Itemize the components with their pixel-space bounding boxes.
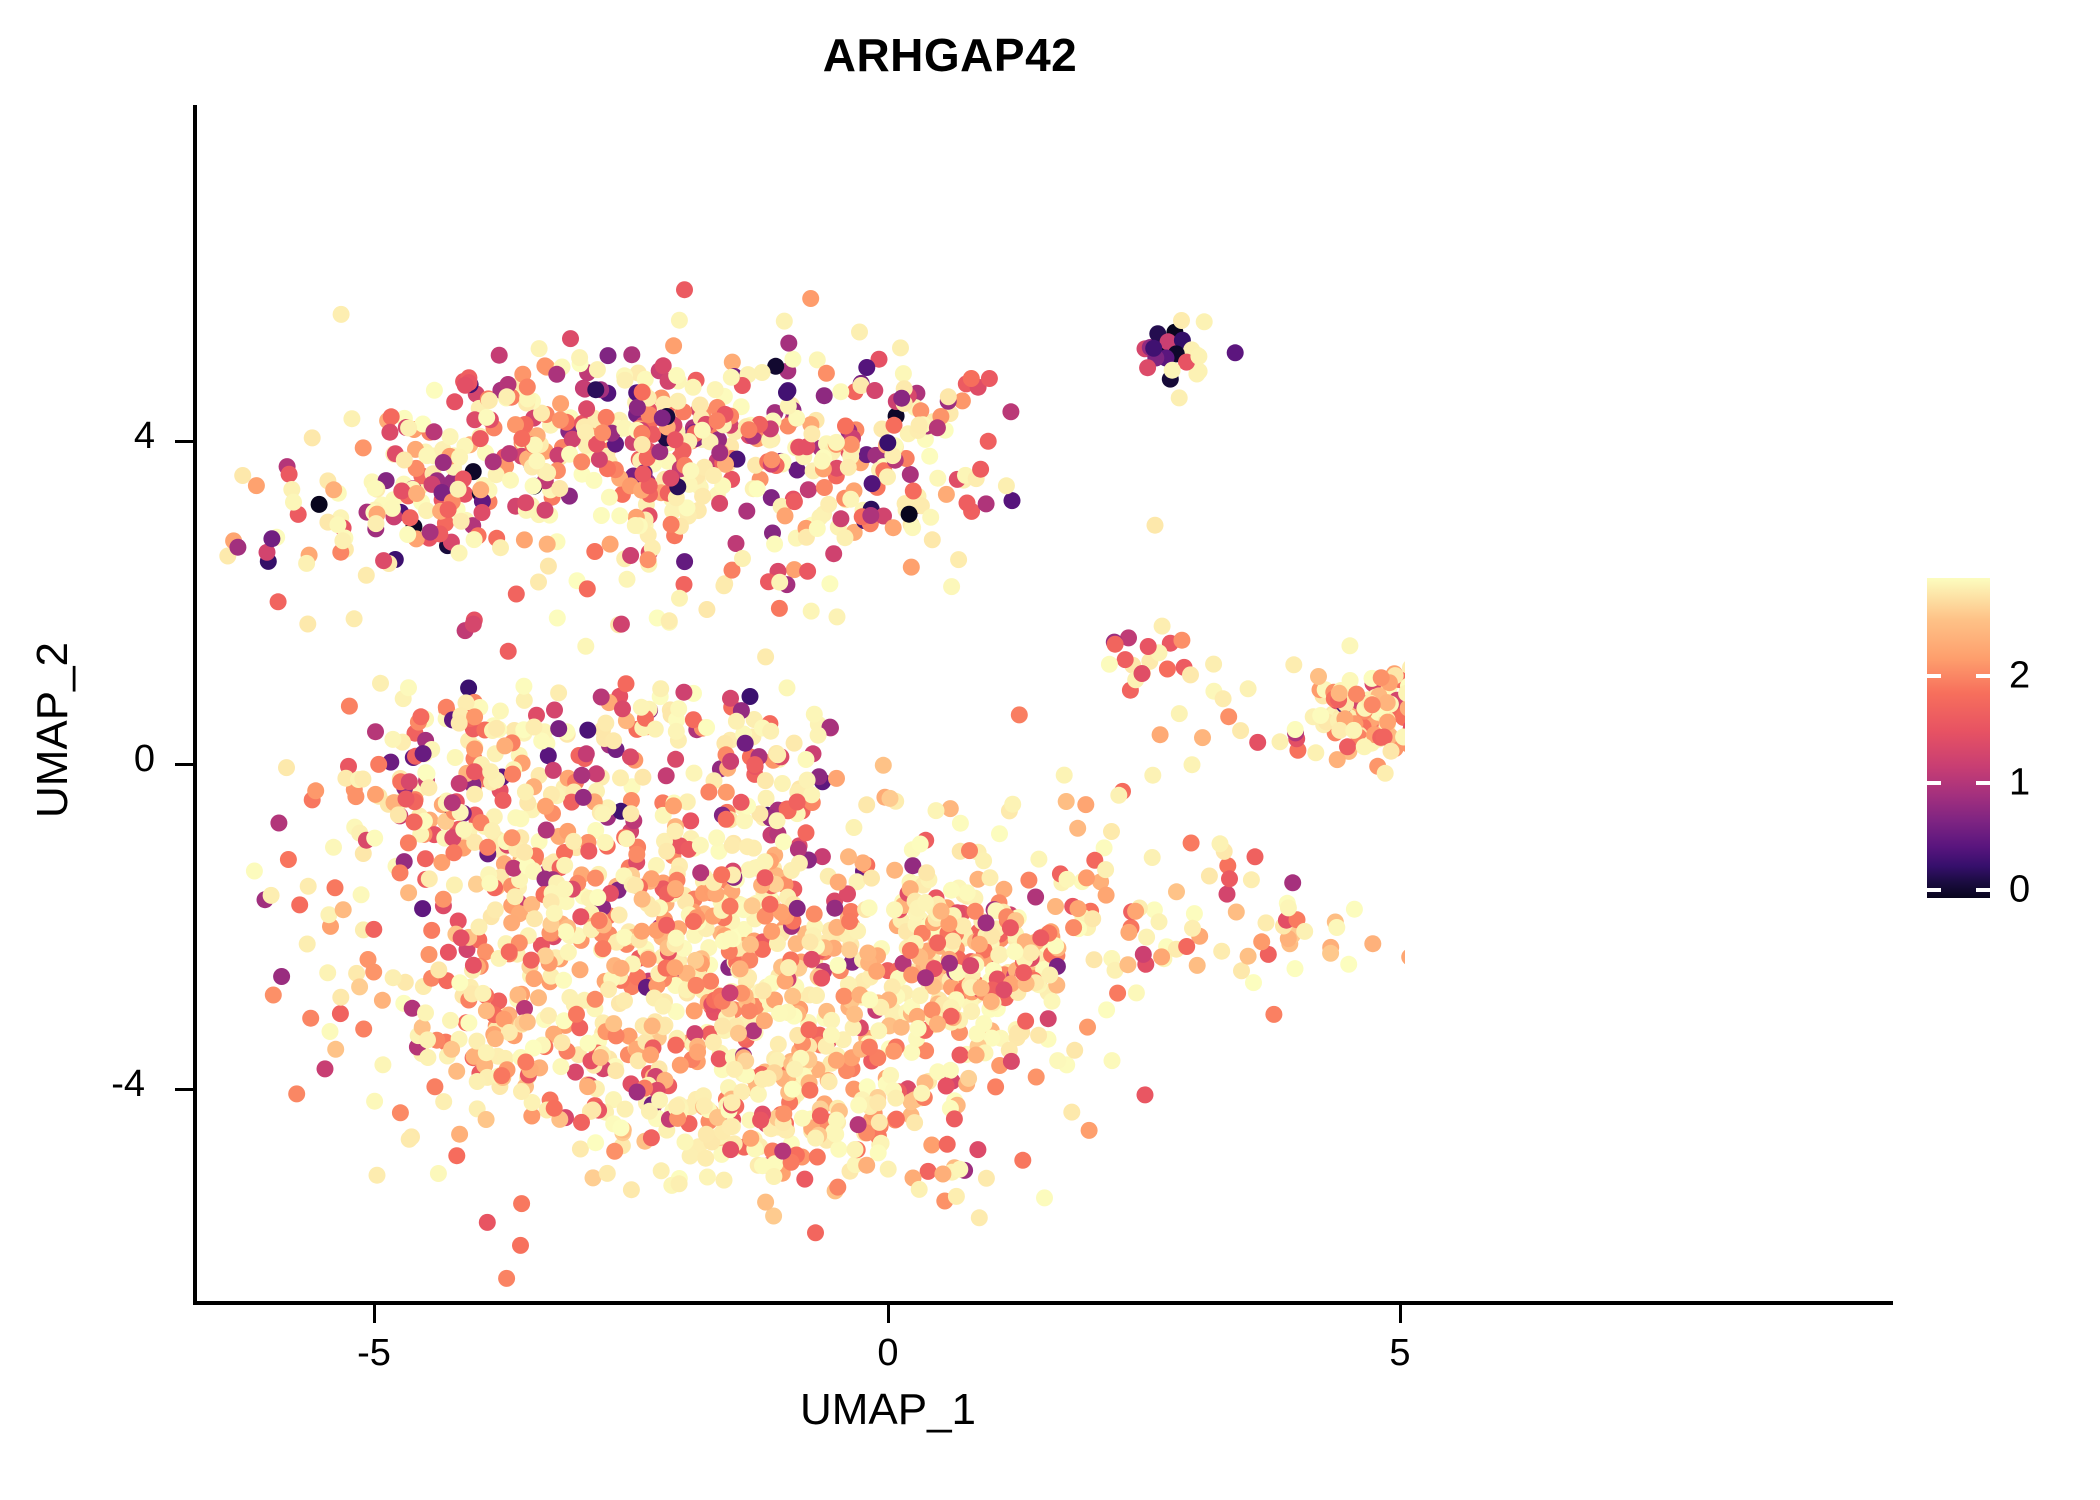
scatter-point bbox=[722, 753, 739, 770]
scatter-point bbox=[756, 1012, 773, 1029]
scatter-point bbox=[968, 1047, 985, 1064]
scatter-point bbox=[882, 790, 899, 807]
scatter-point bbox=[329, 516, 346, 533]
scatter-point bbox=[325, 481, 342, 498]
scatter-point bbox=[776, 313, 793, 330]
scatter-point bbox=[698, 1126, 715, 1143]
scatter-point bbox=[786, 735, 803, 752]
scatter-point bbox=[669, 393, 686, 410]
scatter-point bbox=[1128, 984, 1145, 1001]
scatter-point bbox=[588, 765, 605, 782]
scatter-point bbox=[742, 688, 759, 705]
scatter-point bbox=[374, 992, 391, 1009]
scatter-point bbox=[550, 684, 567, 701]
scatter-point bbox=[905, 483, 922, 500]
scatter-point bbox=[711, 444, 728, 461]
scatter-point bbox=[1015, 964, 1032, 981]
scatter-point bbox=[448, 1147, 465, 1164]
scatter-point bbox=[556, 857, 573, 874]
scatter-point bbox=[602, 536, 619, 553]
scatter-point bbox=[278, 759, 295, 776]
scatter-point bbox=[322, 1023, 339, 1040]
scatter-point bbox=[755, 982, 772, 999]
scatter-point bbox=[1014, 1152, 1031, 1169]
scatter-point bbox=[472, 430, 489, 447]
scatter-point bbox=[722, 984, 739, 1001]
scatter-point bbox=[880, 1161, 897, 1178]
scatter-point bbox=[871, 1114, 888, 1131]
scatter-point bbox=[929, 1063, 946, 1080]
scatter-point bbox=[485, 453, 502, 470]
scatter-point bbox=[451, 715, 468, 732]
scatter-point bbox=[813, 970, 830, 987]
scatter-point bbox=[668, 367, 685, 384]
scatter-point bbox=[487, 901, 504, 918]
scatter-point bbox=[1348, 686, 1365, 703]
scatter-point bbox=[1036, 1189, 1053, 1206]
scatter-point bbox=[762, 896, 779, 913]
scatter-point bbox=[798, 751, 815, 768]
scatter-point bbox=[523, 952, 540, 969]
scatter-point bbox=[696, 1097, 713, 1114]
scatter-point bbox=[1220, 708, 1237, 725]
scatter-point bbox=[652, 680, 669, 697]
scatter-point bbox=[401, 773, 418, 790]
scatter-point bbox=[688, 977, 705, 994]
scatter-point bbox=[1004, 492, 1021, 509]
scatter-point bbox=[1144, 767, 1161, 784]
scatter-point bbox=[504, 829, 521, 846]
scatter-point bbox=[560, 944, 577, 961]
scatter-point bbox=[613, 1119, 630, 1136]
scatter-point bbox=[1002, 919, 1019, 936]
scatter-point bbox=[1168, 883, 1185, 900]
scatter-point bbox=[285, 494, 302, 511]
scatter-point bbox=[667, 751, 684, 768]
scatter-point bbox=[771, 1005, 788, 1022]
scatter-point bbox=[587, 381, 604, 398]
scatter-point bbox=[281, 466, 298, 483]
scatter-point bbox=[334, 532, 351, 549]
scatter-point bbox=[791, 855, 808, 872]
scatter-point bbox=[969, 1141, 986, 1158]
scatter-point bbox=[812, 1107, 829, 1124]
scatter-point bbox=[807, 1224, 824, 1241]
scatter-point bbox=[803, 951, 820, 968]
scatter-point bbox=[665, 797, 682, 814]
scatter-point bbox=[1194, 729, 1211, 746]
scatter-point bbox=[1249, 734, 1266, 751]
scatter-point bbox=[951, 1161, 968, 1178]
scatter-point bbox=[408, 485, 425, 502]
scatter-point bbox=[1184, 756, 1201, 773]
scatter-point bbox=[539, 536, 556, 553]
scatter-point bbox=[635, 466, 652, 483]
scatter-point bbox=[540, 558, 557, 575]
scatter-point bbox=[676, 281, 693, 298]
scatter-point bbox=[832, 510, 849, 527]
scatter-point bbox=[784, 1081, 801, 1098]
scatter-point bbox=[647, 721, 664, 738]
scatter-point bbox=[623, 346, 640, 363]
scatter-point bbox=[708, 829, 725, 846]
x-tick-label-neg5: -5 bbox=[314, 1332, 434, 1375]
scatter-point bbox=[1063, 1104, 1080, 1121]
scatter-point bbox=[943, 882, 960, 899]
colorbar-legend: 2 1 0 bbox=[1927, 578, 1990, 898]
scatter-point bbox=[1287, 721, 1304, 738]
scatter-point bbox=[507, 888, 524, 905]
scatter-point bbox=[837, 529, 854, 546]
scatter-point bbox=[1058, 793, 1075, 810]
scatter-point bbox=[1101, 656, 1118, 673]
scatter-point bbox=[1184, 920, 1201, 937]
scatter-point bbox=[724, 1094, 741, 1111]
scatter-point bbox=[451, 449, 468, 466]
scatter-point bbox=[998, 477, 1015, 494]
scatter-point bbox=[580, 1035, 597, 1052]
scatter-point bbox=[1135, 946, 1152, 963]
scatter-point bbox=[418, 447, 435, 464]
scatter-point bbox=[1196, 313, 1213, 330]
scatter-point bbox=[959, 884, 976, 901]
scatter-point bbox=[474, 504, 491, 521]
scatter-point bbox=[617, 372, 634, 389]
scatter-point bbox=[642, 1046, 659, 1063]
scatter-point bbox=[801, 1082, 818, 1099]
scatter-point bbox=[902, 466, 919, 483]
scatter-point bbox=[585, 472, 602, 489]
scatter-point bbox=[627, 517, 644, 534]
scatter-point bbox=[491, 347, 508, 364]
scatter-point bbox=[426, 423, 443, 440]
scatter-point bbox=[830, 874, 847, 891]
scatter-point bbox=[893, 1019, 910, 1036]
scatter-point bbox=[1027, 889, 1044, 906]
scatter-point bbox=[709, 412, 726, 429]
scatter-point bbox=[1247, 848, 1264, 865]
scatter-point bbox=[611, 907, 628, 924]
scatter-point bbox=[618, 830, 635, 847]
scatter-point bbox=[551, 480, 568, 497]
scatter-point bbox=[823, 1012, 840, 1029]
scatter-point bbox=[892, 339, 909, 356]
scatter-point bbox=[537, 502, 554, 519]
scatter-point bbox=[803, 786, 820, 803]
scatter-point bbox=[803, 425, 820, 442]
scatter-point bbox=[1240, 948, 1257, 965]
scatter-point bbox=[419, 1049, 436, 1066]
scatter-point bbox=[540, 1007, 557, 1024]
scatter-point bbox=[577, 638, 594, 655]
scatter-point bbox=[578, 745, 595, 762]
scatter-point bbox=[789, 794, 806, 811]
scatter-point bbox=[503, 914, 520, 931]
scatter-point bbox=[762, 723, 779, 740]
scatter-point bbox=[634, 436, 651, 453]
scatter-point bbox=[606, 1143, 623, 1160]
scatter-point bbox=[929, 1016, 946, 1033]
scatter-point bbox=[629, 1084, 646, 1101]
scatter-point bbox=[841, 941, 858, 958]
scatter-point bbox=[451, 775, 468, 792]
scatter-point bbox=[229, 539, 246, 556]
scatter-point bbox=[667, 431, 684, 448]
scatter-point bbox=[628, 846, 645, 863]
scatter-point bbox=[823, 1027, 840, 1044]
scatter-point bbox=[419, 1031, 436, 1048]
scatter-point bbox=[1139, 359, 1156, 376]
scatter-point bbox=[980, 433, 997, 450]
scatter-point bbox=[552, 395, 569, 412]
scatter-point bbox=[971, 1209, 988, 1226]
scatter-point bbox=[771, 600, 788, 617]
scatter-point bbox=[1077, 796, 1094, 813]
scatter-point bbox=[1228, 904, 1245, 921]
scatter-point bbox=[573, 453, 590, 470]
scatter-point bbox=[902, 942, 919, 959]
scatter-point bbox=[763, 923, 780, 940]
scatter-point bbox=[623, 1181, 640, 1198]
scatter-point bbox=[1339, 738, 1356, 755]
scatter-point bbox=[1190, 348, 1207, 365]
scatter-point bbox=[465, 616, 482, 633]
scatter-point bbox=[401, 1131, 418, 1148]
scatter-point bbox=[757, 1194, 774, 1211]
scatter-point bbox=[801, 1021, 818, 1038]
scatter-point bbox=[816, 479, 833, 496]
scatter-point bbox=[961, 842, 978, 859]
scatter-point bbox=[500, 643, 517, 660]
scatter-point bbox=[716, 1172, 733, 1189]
x-tick-neg5 bbox=[373, 1305, 376, 1323]
scatter-point bbox=[1097, 861, 1114, 878]
scatter-point bbox=[280, 851, 297, 868]
scatter-point bbox=[1138, 929, 1155, 946]
scatter-point bbox=[959, 495, 976, 512]
scatter-points-layer bbox=[195, 105, 1405, 1303]
scatter-point bbox=[587, 1134, 604, 1151]
scatter-point bbox=[933, 903, 950, 920]
scatter-point bbox=[780, 959, 797, 976]
scatter-point bbox=[888, 1111, 905, 1128]
scatter-point bbox=[754, 1071, 771, 1088]
scatter-point bbox=[975, 852, 992, 869]
scatter-point bbox=[952, 1047, 969, 1064]
scatter-point bbox=[634, 891, 651, 908]
colorbar-label-2: 2 bbox=[2009, 655, 2030, 698]
scatter-point bbox=[840, 459, 857, 476]
scatter-point bbox=[622, 748, 639, 765]
scatter-point bbox=[263, 530, 280, 547]
scatter-point bbox=[421, 946, 438, 963]
scatter-point bbox=[1127, 903, 1144, 920]
scatter-point bbox=[548, 366, 565, 383]
scatter-point bbox=[821, 1073, 838, 1090]
scatter-point bbox=[478, 1044, 495, 1061]
scatter-point bbox=[484, 822, 501, 839]
scatter-point bbox=[1104, 1052, 1121, 1069]
scatter-point bbox=[605, 732, 622, 749]
scatter-point bbox=[1307, 744, 1324, 761]
scatter-point bbox=[367, 480, 384, 497]
scatter-point bbox=[605, 1015, 622, 1032]
scatter-point bbox=[616, 992, 633, 1009]
scatter-point bbox=[722, 898, 739, 915]
scatter-point bbox=[885, 1043, 902, 1060]
scatter-point bbox=[741, 1002, 758, 1019]
scatter-point bbox=[622, 805, 639, 822]
scatter-point bbox=[435, 454, 452, 471]
scatter-point bbox=[291, 896, 308, 913]
x-axis-title: UMAP_1 bbox=[588, 1385, 1188, 1435]
scatter-point bbox=[607, 1062, 624, 1079]
scatter-point bbox=[1240, 680, 1257, 697]
scatter-point bbox=[769, 746, 786, 763]
scatter-point bbox=[263, 887, 280, 904]
scatter-point bbox=[718, 811, 735, 828]
scatter-point bbox=[365, 921, 382, 938]
scatter-point bbox=[526, 910, 543, 927]
scatter-point bbox=[1079, 1019, 1096, 1036]
scatter-point bbox=[1107, 636, 1124, 653]
scatter-point bbox=[633, 699, 650, 716]
scatter-point bbox=[1030, 851, 1047, 868]
scatter-point bbox=[640, 951, 657, 968]
scatter-point bbox=[1173, 632, 1190, 649]
scatter-point bbox=[593, 507, 610, 524]
scatter-point bbox=[426, 382, 443, 399]
scatter-point bbox=[651, 1092, 668, 1109]
scatter-point bbox=[332, 989, 349, 1006]
scatter-point bbox=[938, 486, 955, 503]
scatter-point bbox=[600, 347, 617, 364]
scatter-point bbox=[512, 1237, 529, 1254]
scatter-point bbox=[288, 1085, 305, 1102]
scatter-point bbox=[676, 553, 693, 570]
scatter-point bbox=[562, 330, 579, 347]
scatter-point bbox=[963, 370, 980, 387]
scatter-point bbox=[906, 1114, 923, 1131]
scatter-point bbox=[806, 906, 823, 923]
scatter-point bbox=[319, 964, 336, 981]
scatter-point bbox=[685, 913, 702, 930]
scatter-point bbox=[750, 1086, 767, 1103]
scatter-point bbox=[1364, 935, 1381, 952]
scatter-point bbox=[1098, 1001, 1115, 1018]
scatter-point bbox=[451, 974, 468, 991]
scatter-point bbox=[929, 934, 946, 951]
scatter-point bbox=[1265, 1006, 1282, 1023]
scatter-point bbox=[1186, 905, 1203, 922]
scatter-point bbox=[1346, 901, 1363, 918]
scatter-point bbox=[317, 1060, 334, 1077]
scatter-point bbox=[861, 899, 878, 916]
scatter-point bbox=[978, 495, 995, 512]
scatter-point bbox=[644, 1018, 661, 1035]
scatter-point bbox=[794, 1110, 811, 1127]
scatter-point bbox=[273, 968, 290, 985]
scatter-point bbox=[840, 848, 857, 865]
scatter-point bbox=[333, 306, 350, 323]
scatter-point bbox=[1341, 637, 1358, 654]
scatter-point bbox=[519, 1014, 536, 1031]
scatter-point bbox=[653, 1162, 670, 1179]
scatter-point bbox=[1065, 919, 1082, 936]
scatter-point bbox=[672, 1057, 689, 1074]
scatter-point bbox=[1004, 796, 1021, 813]
umap-feature-plot: ARHGAP42 4 0 -4 -5 0 5 UMAP_1 UMAP_2 2 1… bbox=[0, 0, 2100, 1500]
scatter-point bbox=[496, 737, 513, 754]
scatter-point bbox=[830, 957, 847, 974]
scatter-point bbox=[800, 481, 817, 498]
scatter-point bbox=[1205, 656, 1222, 673]
scatter-point bbox=[923, 1137, 940, 1154]
scatter-point bbox=[895, 365, 912, 382]
scatter-point bbox=[572, 1141, 589, 1158]
scatter-point bbox=[584, 1102, 601, 1119]
scatter-point bbox=[1002, 403, 1019, 420]
scatter-point bbox=[343, 410, 360, 427]
scatter-point bbox=[722, 1118, 739, 1135]
scatter-point bbox=[1120, 924, 1137, 941]
scatter-point bbox=[1164, 362, 1181, 379]
colorbar-tick-0-left bbox=[1927, 888, 1941, 892]
scatter-point bbox=[366, 1093, 383, 1110]
scatter-point bbox=[488, 720, 505, 737]
scatter-point bbox=[530, 989, 547, 1006]
scatter-point bbox=[504, 766, 521, 783]
scatter-point bbox=[1070, 900, 1087, 917]
scatter-point bbox=[421, 870, 438, 887]
y-tick-neg4 bbox=[175, 1088, 193, 1091]
scatter-point bbox=[799, 563, 816, 580]
scatter-point bbox=[864, 475, 881, 492]
scatter-point bbox=[842, 491, 859, 508]
scatter-point bbox=[622, 547, 639, 564]
scatter-point bbox=[786, 1061, 803, 1078]
scatter-point bbox=[567, 1064, 584, 1081]
scatter-point bbox=[390, 806, 407, 823]
scatter-point bbox=[611, 507, 628, 524]
scatter-point bbox=[613, 960, 630, 977]
scatter-point bbox=[553, 1034, 570, 1051]
scatter-point bbox=[901, 506, 918, 523]
scatter-point bbox=[393, 483, 410, 500]
scatter-point bbox=[981, 370, 998, 387]
scatter-point bbox=[370, 756, 387, 773]
scatter-point bbox=[1028, 1069, 1045, 1086]
scatter-point bbox=[556, 881, 573, 898]
scatter-point bbox=[531, 340, 548, 357]
scatter-point bbox=[671, 590, 688, 607]
y-axis-title: UMAP_2 bbox=[28, 480, 78, 980]
scatter-point bbox=[1069, 820, 1086, 837]
scatter-point bbox=[526, 970, 543, 987]
scatter-point bbox=[1221, 870, 1238, 887]
scatter-point bbox=[400, 679, 417, 696]
scatter-point bbox=[866, 382, 883, 399]
scatter-point bbox=[457, 377, 474, 394]
scatter-point bbox=[466, 763, 483, 780]
scatter-point bbox=[1383, 743, 1400, 760]
scatter-point bbox=[1356, 738, 1373, 755]
y-tick-label-4: 4 bbox=[95, 415, 155, 458]
scatter-point bbox=[766, 536, 783, 553]
scatter-point bbox=[859, 945, 876, 962]
scatter-point bbox=[589, 889, 606, 906]
scatter-point bbox=[667, 823, 684, 840]
